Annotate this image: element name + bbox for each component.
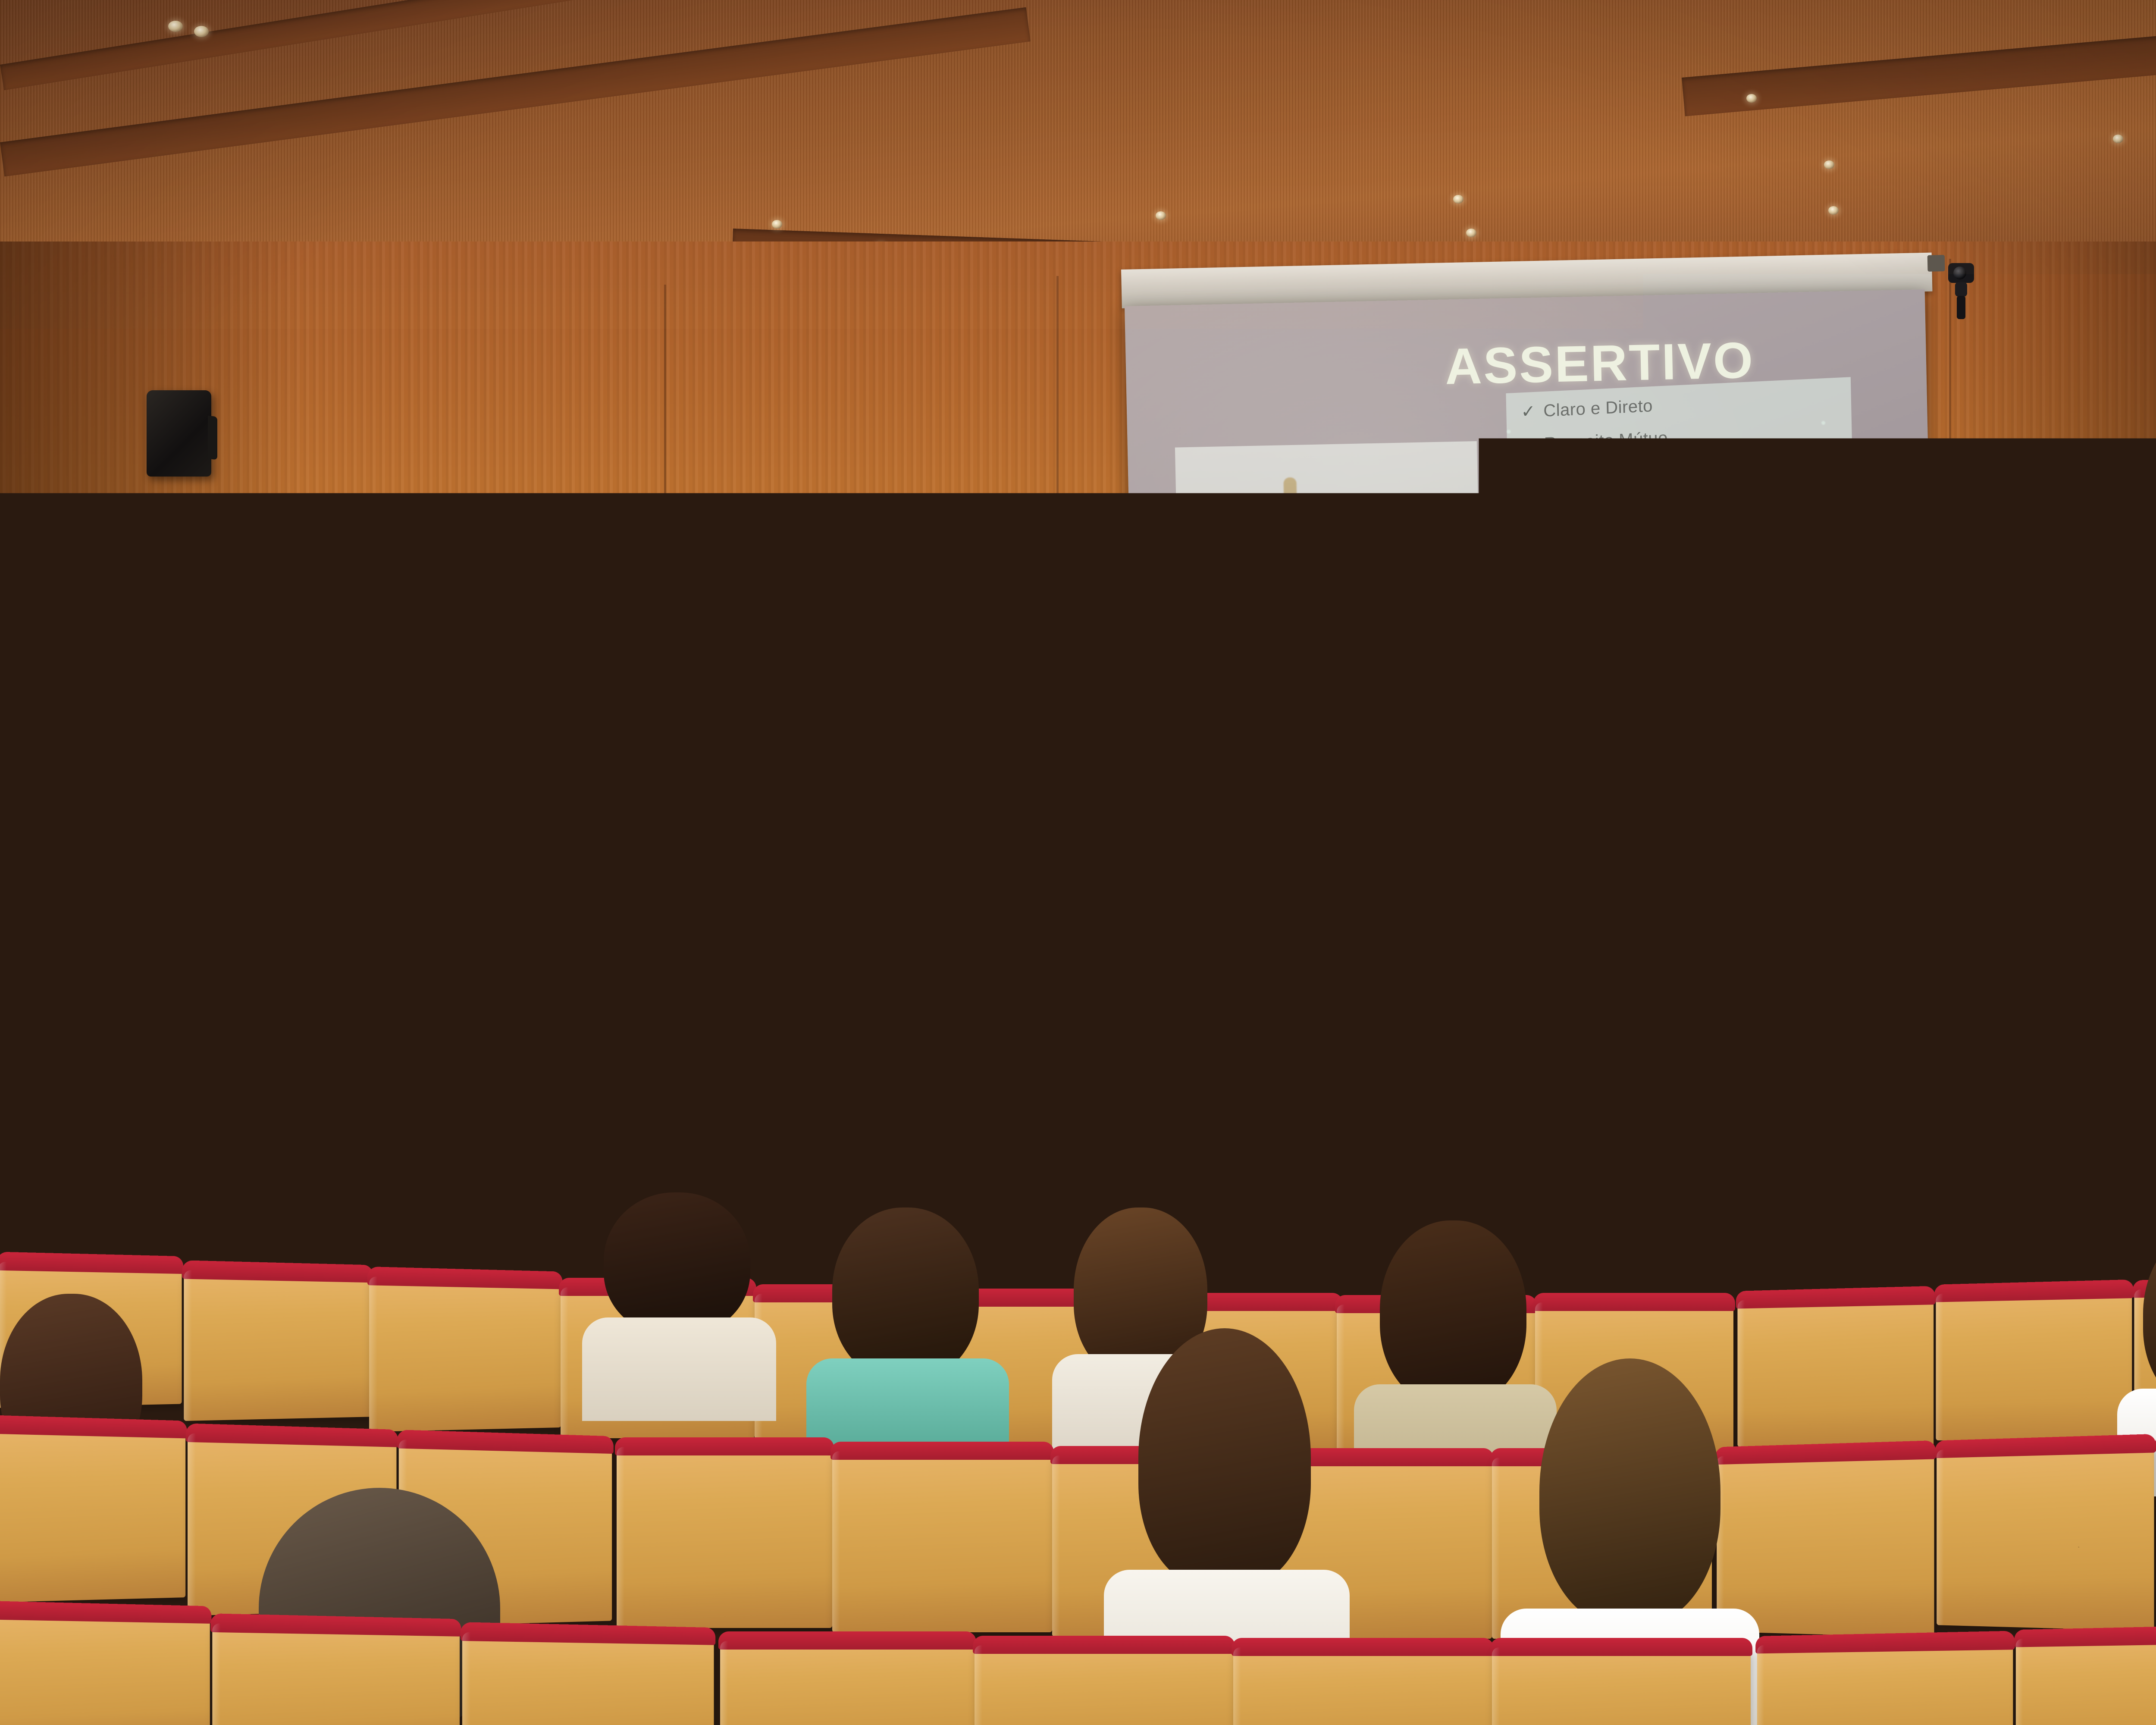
presenter-mouth: [1047, 845, 1058, 852]
wall-seam: [1949, 259, 1951, 1164]
camera-mount-arm: [1957, 296, 1965, 319]
advantage-item: Confiança e Autoestima: [1523, 679, 1677, 698]
slide-disadvantages-card: Desvantagens Mal interpretado por Outros…: [1695, 562, 1842, 768]
audience-shoulders: [582, 1317, 776, 1421]
checklist-label: Claro e Direto: [1543, 396, 1653, 420]
ceiling-beam: [0, 7, 1031, 177]
wall-camera-icon: [1948, 263, 1974, 319]
chair-skid-base: [1975, 1095, 2104, 1102]
advantage-item: Melhores Relacionamentos: [1522, 637, 1676, 671]
fire-extinguisher-sign-icon: [90, 705, 116, 732]
audience-seat[interactable]: [1737, 1296, 1934, 1452]
audience-seat[interactable]: [0, 1425, 185, 1603]
audience-hair: [832, 1207, 979, 1380]
ceiling-spotlight-icon: [1824, 160, 1834, 169]
door-porthole-icon: [384, 887, 442, 1012]
laptop[interactable]: [795, 842, 938, 928]
audience-seat[interactable]: [0, 1610, 210, 1725]
ceiling-spotlight-icon: [1156, 211, 1166, 220]
chair-seat: [184, 1216, 278, 1231]
checkmark-icon: ✓: [1521, 435, 1536, 455]
audience-seat[interactable]: [462, 1632, 714, 1725]
door-porthole-icon: [320, 887, 378, 1012]
audience-seat[interactable]: [184, 1270, 371, 1421]
audience-seat[interactable]: [720, 1641, 975, 1725]
audience-seat[interactable]: [975, 1645, 1233, 1725]
chair-backrest: [189, 1147, 273, 1160]
camera-lens-icon: [1953, 267, 1966, 279]
chair-backrest: [452, 1138, 536, 1151]
microphone-head-icon: [961, 822, 979, 836]
lectern-stud-icon: [799, 1239, 805, 1245]
door-split: [391, 787, 394, 1281]
fire-extinguisher-icon: [108, 1022, 139, 1108]
slide-advantages-card: Vantagens Comunicação Eficaz Melhores Re…: [1510, 558, 1686, 721]
audience-seat[interactable]: [1936, 1289, 2132, 1445]
giraffe-shape: [1236, 597, 1250, 666]
presenter-shoe: [1016, 1253, 1068, 1276]
giraffe-shape: [1366, 517, 1381, 625]
audience-hair: [1380, 1220, 1526, 1406]
audience-seat[interactable]: [1937, 1444, 2154, 1631]
ceiling-spotlight-icon: [2113, 135, 2123, 143]
checkmark-icon: ✓: [1521, 402, 1536, 422]
camera-neck: [1955, 282, 1967, 297]
lectern-stud-icon: [937, 963, 943, 970]
table-microphone-icon[interactable]: [1343, 1043, 1379, 1072]
audience-seat[interactable]: [1717, 1450, 1934, 1637]
giraffe-shape: [1407, 585, 1421, 663]
checklist-item: ✓Respeito Mútuo: [1521, 419, 1852, 455]
chair-back: [1984, 914, 2096, 1022]
giraffe-shape: [1308, 603, 1357, 680]
screen-roller-cap: [1927, 255, 1945, 272]
wall-seam: [664, 285, 666, 1199]
audience-hair: [1539, 1358, 1720, 1626]
door-handle-icon[interactable]: [371, 1051, 398, 1055]
side-armchair[interactable]: [1971, 914, 2113, 1104]
giraffe-shape: [1283, 477, 1299, 607]
slide-checklist-panel: ✓Claro e Direto ✓Respeito Mútuo ✓Equilíb…: [1506, 377, 1852, 484]
audience-seat[interactable]: [369, 1276, 561, 1432]
auditorium-scene: ASSERTIVO ✓Claro e Direto ✓Respeito Mú: [0, 0, 2156, 1725]
checklist-label: Equilíbrio: [1545, 464, 1619, 486]
flagpole: [906, 612, 909, 675]
ceiling-spotlight-icon: [1828, 206, 1839, 215]
audience-seat[interactable]: [1233, 1647, 1492, 1725]
portugal-coat-of-arms-icon: [837, 753, 862, 784]
table-leg: [1626, 1239, 1690, 1298]
audience-seat[interactable]: [1492, 1647, 1751, 1725]
bottle-label: [1237, 1027, 1252, 1046]
giraffe-shape: [1227, 657, 1269, 714]
audience-hair: [1772, 1160, 1880, 1281]
checklist-item: ✓Claro e Direto: [1521, 386, 1851, 422]
audience-seat[interactable]: [2016, 1634, 2156, 1725]
chair-seat: [1977, 1016, 2106, 1051]
black-case[interactable]: [1701, 1034, 1749, 1063]
wall-seam: [1932, 707, 2156, 709]
disadvantages-heading: Desvantagens: [1696, 613, 1839, 633]
paper-cup[interactable]: [1764, 1022, 1782, 1056]
door-lock-icon[interactable]: [362, 1068, 367, 1073]
slide-photo-giraffes: [1175, 441, 1483, 732]
ceiling-spotlight-icon: [772, 220, 782, 229]
wall-speaker-icon: [147, 390, 211, 477]
audience-seat[interactable]: [1757, 1641, 2013, 1725]
presenter-hand: [1196, 959, 1219, 978]
audience-seat[interactable]: [212, 1623, 460, 1725]
ceiling-spotlight-icon: [168, 21, 183, 32]
chair-seat: [447, 1207, 541, 1222]
audience-hair: [1138, 1328, 1311, 1587]
ceiling-spotlight-icon: [1466, 229, 1476, 237]
blue-marker-box[interactable]: [1621, 991, 1703, 1039]
grey-floor-box: [1229, 1223, 1302, 1291]
ceiling-spotlight-icon: [1746, 94, 1757, 103]
checkmark-icon: ✓: [1522, 467, 1537, 487]
ceiling-spotlight-icon: [194, 26, 209, 37]
giraffe-shape: [1256, 514, 1271, 610]
checklist-label: Respeito Mútuo: [1544, 428, 1668, 453]
presenter-hand: [1199, 932, 1223, 954]
giraffe-shape: [1397, 655, 1442, 712]
lectern-stud-icon: [799, 967, 805, 974]
door-handle-icon[interactable]: [327, 1051, 354, 1055]
emergency-info-sticker-icon: [94, 919, 141, 939]
audience-hair: [604, 1192, 750, 1335]
giraffe-shape: [1314, 509, 1329, 613]
audience-seat[interactable]: [617, 1447, 832, 1628]
disadvantage-item-cont: por Outros Estilos: [1708, 672, 1832, 690]
folding-chair[interactable]: [444, 1138, 543, 1276]
projection-screen: ASSERTIVO ✓Claro e Direto ✓Respeito Mú: [1125, 289, 1936, 850]
disadvantage-item: Mal interpretado: [1708, 645, 1832, 663]
advantage-item: Comunicação Eficaz: [1522, 609, 1676, 628]
audience-seat[interactable]: [832, 1451, 1052, 1632]
ceiling-spotlight-icon: [1453, 195, 1463, 204]
snack-bags[interactable]: [1738, 1007, 1837, 1050]
